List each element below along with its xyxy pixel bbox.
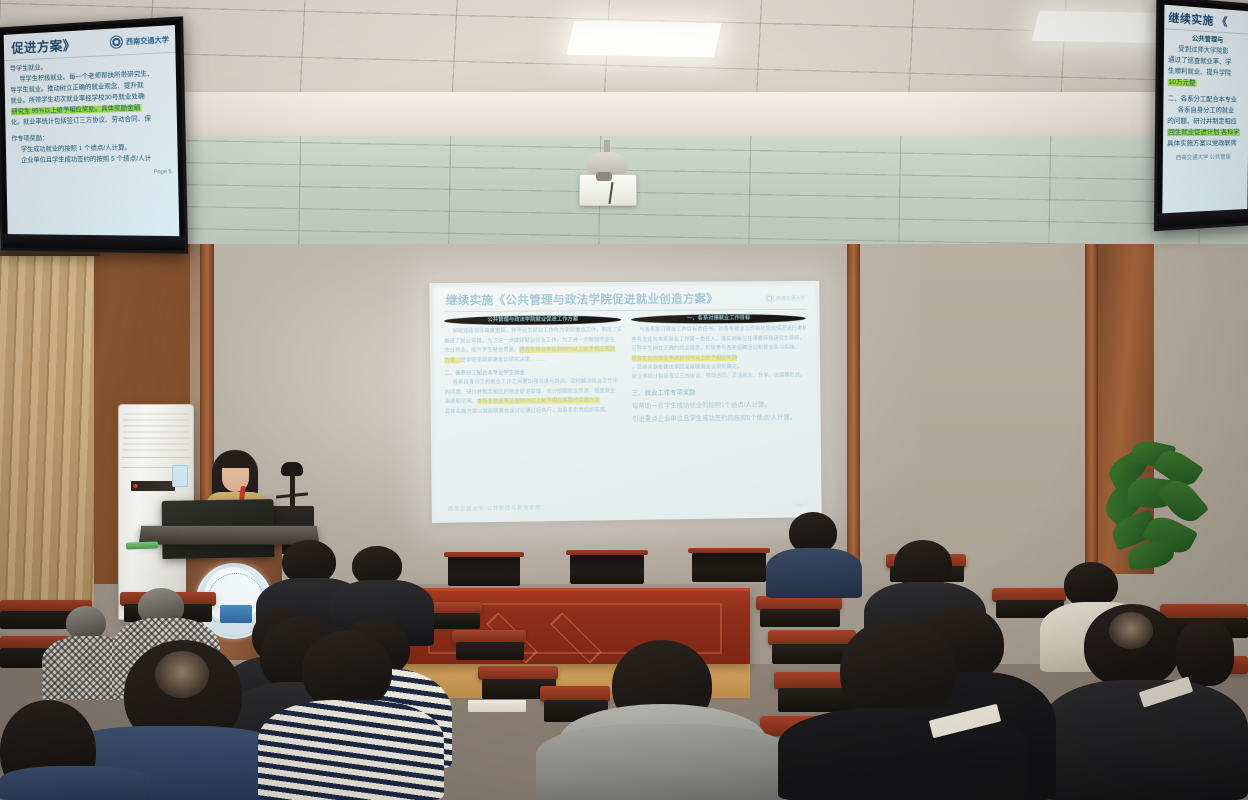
main-projection-screen: 继续实施《公共管理与政法学院促进就业创造方案》 西南交通大学 公共管理与政法学院…: [429, 281, 821, 523]
projected-slide-page-label: Page 6: [794, 502, 808, 507]
presenter-fringe: [218, 452, 253, 468]
ceiling-light-panel: [566, 21, 721, 58]
slide-line: 引导学生树立正确的就业观念，积极参与各类招聘活动和就业实习实践。: [631, 344, 806, 355]
projected-slide-footer: 西南交通大学 公共管理与政法学院: [448, 504, 541, 512]
left-slide-body: 导学生就业。 导学生积极就业。每一个老师帮扶所带研究生、 导学生就业。推动树立正…: [4, 53, 178, 169]
chair-back[interactable]: [768, 630, 856, 645]
microphone-stem: [290, 472, 295, 510]
right-monitor-screen: 继续实施 《 公共管理与 受到过师大学院影 通过了巡查就业率、学 生顺利就业、提…: [1162, 5, 1248, 214]
audience-head: [894, 540, 952, 588]
column-heading: 一、各系对接就业工作目标: [631, 314, 806, 325]
ac-power-led-icon: [133, 484, 138, 488]
lectern-top-surface: [139, 526, 320, 545]
potted-plant: [1102, 438, 1212, 570]
chair-seat[interactable]: [760, 609, 840, 627]
audience-head: [66, 606, 106, 640]
slide-line: 具体实施方案以党政联席: [1167, 138, 1244, 150]
slide-left-column: 公共管理与政法学院就业促进工作方案 学院党政领导高度重视，将毕业生就业工作作为学…: [444, 315, 622, 428]
university-seal-icon: [765, 294, 774, 303]
university-logo: 西南交通大学: [110, 33, 169, 49]
wall-trim-column: [1085, 244, 1098, 574]
audience-shoulders: [0, 766, 150, 800]
left-monitor-screen: 促进方案》 西南交通大学 导学生就业。 导学生积极就业。每一个老师帮扶所带研究生…: [4, 25, 180, 236]
slide-right-column: 一、各系对接就业工作目标 与各系签订就业工作目标责任书，对各系就业工作目标完成情…: [631, 314, 807, 426]
right-slide-title: 继续实施 《: [1168, 9, 1228, 29]
ac-seam: [121, 457, 191, 458]
chair-back[interactable]: [478, 666, 558, 680]
audience-head-bald: [1084, 604, 1180, 688]
left-slide-page-label: Page 5: [6, 167, 178, 177]
slide-line-highlighted: 回生就业促进计划 各科学: [1167, 127, 1244, 138]
back-bench-frame: [566, 550, 648, 555]
left-wall-monitor[interactable]: 促进方案》 西南交通大学 导学生就业。 导学生积极就业。每一个老师帮扶所带研究生…: [0, 16, 188, 253]
audience-shoulders: [258, 700, 444, 800]
slide-line: 引进重点企业单位且学生成功签约的按照5个绩点/人计算。: [632, 411, 807, 426]
right-wall-monitor[interactable]: 继续实施 《 公共管理与 受到过师大学院影 通过了巡查就业率、学 生顺利就业、提…: [1154, 0, 1248, 231]
university-name: 西南交通大学: [126, 34, 169, 46]
bald-spot: [1109, 612, 1153, 649]
chair-writing-tablet[interactable]: [468, 700, 526, 712]
right-slide-body: 公共管理与 受到过师大学院影 通过了巡查就业率、学 生顺利就业、提升学院 10万…: [1163, 29, 1248, 151]
back-bench-seat[interactable]: [448, 556, 520, 586]
audience-shoulders: [766, 548, 862, 598]
ceiling-soffit-beam: [0, 92, 1248, 140]
projector-lens-icon: [596, 172, 612, 181]
projected-slide-header: 继续实施《公共管理与政法学院促进就业创造方案》 西南交通大学: [433, 285, 815, 311]
slide-line-highlighted: 方案。经学院党政联席会议研究决定，……: [444, 355, 621, 366]
emblem-core-icon: [220, 605, 252, 623]
bald-spot: [155, 651, 209, 699]
university-name: 西南交通大学: [776, 294, 806, 301]
audience-shoulders: [536, 724, 794, 800]
back-bench-seat[interactable]: [692, 552, 766, 582]
rail-diamond-motif: [550, 612, 601, 663]
conference-room-scene: 促进方案》 西南交通大学 导学生就业。 导学生积极就业。每一个老师帮扶所带研究生…: [0, 0, 1248, 800]
slide-line: 企业单位且学生成功签约的按照 5 个绩点/人计: [12, 153, 172, 166]
projected-slide-title: 继续实施《公共管理与政法学院促进就业创造方案》: [446, 290, 718, 308]
ac-brand-badge: [172, 465, 188, 487]
audience-head: [1176, 620, 1234, 686]
back-bench-frame: [444, 552, 524, 557]
slide-line-highlighted: 充分就业，提升学生就业质量，研究生就业率达到95%以上给予相应奖励: [444, 345, 621, 356]
chair-seat[interactable]: [456, 642, 524, 660]
left-monitor-bezel: [3, 234, 185, 251]
column-heading: 公共管理与政法学院就业促进工作方案: [444, 315, 621, 326]
back-bench-frame: [688, 548, 770, 553]
audience-head: [840, 618, 956, 722]
back-bench-seat[interactable]: [570, 554, 644, 584]
right-slide-footer: 西南交通大学 公共管理: [1163, 150, 1248, 161]
slide-line: 就业率统计包括签订三方协议、劳动合同、灵活就业、升学、出国等形式。: [632, 372, 807, 383]
slide-line: 各系自身分工的就业: [1167, 104, 1244, 116]
chair-back[interactable]: [756, 596, 842, 610]
slide-line: 具体实施方案以党政联席会议讨论通过后执行，由各系负责组织实施。: [445, 406, 622, 417]
projected-slide-columns: 公共管理与政法学院就业促进工作方案 学院党政领导高度重视，将毕业生就业工作作为学…: [434, 314, 817, 428]
projected-university-logo: 西南交通大学: [765, 293, 806, 302]
projected-slide: 继续实施《公共管理与政法学院促进就业创造方案》 西南交通大学 公共管理与政法学院…: [433, 285, 817, 519]
curtain-folds: [0, 254, 94, 624]
university-seal-icon: [110, 35, 123, 49]
ceiling-light-panel: [1031, 11, 1176, 43]
ac-vent-grill: [123, 413, 189, 453]
pen-tray: [126, 541, 158, 549]
audience-head: [302, 630, 392, 710]
slide-line: 的问题、研讨并制定相应: [1167, 116, 1244, 127]
wall-trim-column: [847, 244, 860, 584]
left-slide-title: 促进方案》: [11, 35, 76, 57]
